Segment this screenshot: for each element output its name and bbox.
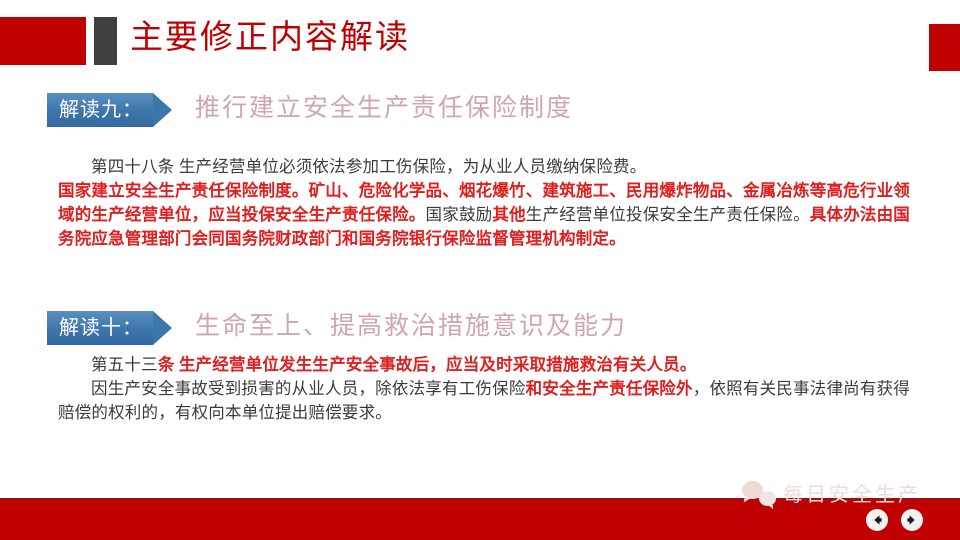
section-9-tag-label: 解读九： bbox=[59, 100, 143, 120]
section-10-header: 解读十： 生命至上、提高救治措施意识及能力 bbox=[0, 311, 960, 345]
highlighted-text: 其他 bbox=[492, 205, 525, 224]
header-gray-bar bbox=[94, 17, 117, 65]
section-9-tag: 解读九： bbox=[47, 93, 172, 127]
wechat-icon bbox=[742, 480, 776, 506]
section-10-tag: 解读十： bbox=[47, 311, 172, 345]
section-10-tag-body: 解读十： bbox=[47, 311, 153, 345]
section-9-header: 解读九： 推行建立安全生产责任保险制度 bbox=[0, 93, 960, 127]
body-text: 生产经营单位投保安全生产责任保险。 bbox=[526, 205, 810, 224]
paragraph: 第四十八条 生产经营单位必须依法参加工伤保险，为从业人员缴纳保险费。 bbox=[58, 155, 910, 179]
section-10-tag-arrow-icon bbox=[153, 311, 172, 345]
paragraph: 国家建立安全生产责任保险制度。矿山、危险化学品、烟花爆竹、建筑施工、民用爆炸物品… bbox=[58, 179, 910, 251]
arrow-left-icon bbox=[870, 513, 884, 527]
corner-red-block bbox=[929, 24, 960, 71]
watermark: 每日安全生产 bbox=[742, 478, 921, 507]
body-text: 第五十三 bbox=[91, 355, 158, 374]
paragraph: 因生产安全事故受到损害的从业人员，除依法享有工伤保险和安全生产责任保险外，依照有… bbox=[58, 377, 910, 425]
section-9-tag-body: 解读九： bbox=[47, 93, 153, 127]
body-text: 国家鼓励 bbox=[426, 205, 493, 224]
page-title: 主要修正内容解读 bbox=[130, 16, 410, 60]
prev-slide-button[interactable] bbox=[866, 509, 888, 531]
section-10-title: 生命至上、提高救治措施意识及能力 bbox=[195, 309, 627, 345]
navigation-controls bbox=[866, 509, 923, 531]
body-text: 第四十八条 生产经营单位必须依法参加工伤保险，为从业人员缴纳保险费。 bbox=[91, 157, 646, 176]
highlighted-text: 和安全生产责任保险外 bbox=[526, 379, 693, 398]
watermark-label: 每日安全生产 bbox=[783, 478, 921, 507]
highlighted-text: 条 生产经营单位发生生产安全事故后，应当及时采取措施救治有关人员。 bbox=[158, 355, 697, 374]
body-text: 因生产安全事故受到损害的从业人员，除依法享有工伤保险 bbox=[91, 379, 526, 398]
arrow-right-icon bbox=[905, 513, 919, 527]
section-9-title: 推行建立安全生产责任保险制度 bbox=[195, 91, 573, 127]
section-10-body: 第五十三条 生产经营单位发生生产安全事故后，应当及时采取措施救治有关人员。 因生… bbox=[58, 353, 910, 425]
section-interpretation-9: 解读九： 推行建立安全生产责任保险制度 第四十八条 生产经营单位必须依法参加工伤… bbox=[0, 93, 960, 127]
section-9-tag-arrow-icon bbox=[153, 93, 172, 127]
header-red-block bbox=[0, 17, 86, 65]
paragraph: 第五十三条 生产经营单位发生生产安全事故后，应当及时采取措施救治有关人员。 bbox=[58, 353, 910, 377]
next-slide-button[interactable] bbox=[901, 509, 923, 531]
wechat-bubble-small bbox=[759, 491, 776, 506]
slide-canvas: 主要修正内容解读 解读九： 推行建立安全生产责任保险制度 第四十八条 生产经营单… bbox=[0, 0, 960, 540]
section-10-tag-label: 解读十： bbox=[59, 318, 143, 338]
section-interpretation-10: 解读十： 生命至上、提高救治措施意识及能力 第五十三条 生产经营单位发生生产安全… bbox=[0, 311, 960, 345]
section-9-body: 第四十八条 生产经营单位必须依法参加工伤保险，为从业人员缴纳保险费。 国家建立安… bbox=[58, 155, 910, 251]
